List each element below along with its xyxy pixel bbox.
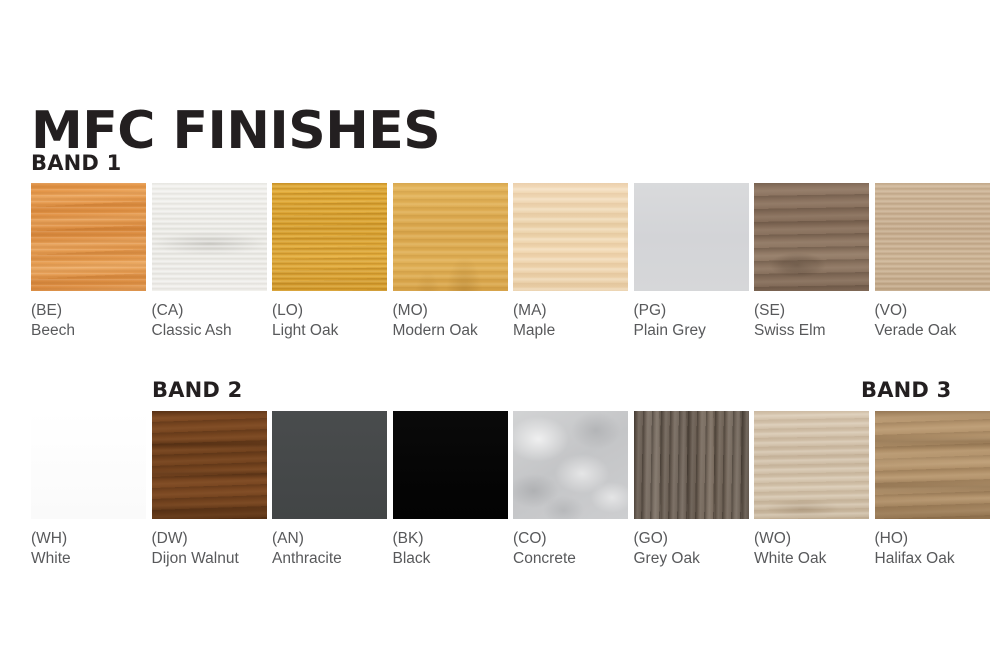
band-heading-band-2: BAND 2 bbox=[152, 379, 242, 401]
swatch-chip-lo[interactable] bbox=[272, 183, 387, 291]
swatch-chip-ma[interactable] bbox=[513, 183, 628, 291]
swatch-code: (MO) bbox=[393, 301, 508, 321]
swatch-name: Classic Ash bbox=[152, 321, 267, 341]
swatch-swiss-elm[interactable]: (SE)Swiss Elm bbox=[754, 183, 869, 341]
swatch-name: Light Oak bbox=[272, 321, 387, 341]
swatch-white-oak[interactable]: (WO)White Oak bbox=[754, 411, 869, 569]
swatch-name: White Oak bbox=[754, 549, 869, 569]
swatch-light-oak[interactable]: (LO)Light Oak bbox=[272, 183, 387, 341]
swatch-chip-dw[interactable] bbox=[152, 411, 267, 519]
swatch-anthracite[interactable]: (AN)Anthracite bbox=[272, 411, 387, 569]
swatch-caption: (BK)Black bbox=[393, 529, 508, 569]
swatch-code: (WH) bbox=[31, 529, 146, 549]
swatch-chip-mo[interactable] bbox=[393, 183, 508, 291]
swatch-chip-co[interactable] bbox=[513, 411, 628, 519]
swatch-beech[interactable]: (BE)Beech bbox=[31, 183, 146, 341]
swatch-code: (BE) bbox=[31, 301, 146, 321]
swatch-name: Grey Oak bbox=[634, 549, 749, 569]
swatch-caption: (DW)Dijon Walnut bbox=[152, 529, 267, 569]
swatch-chip-pg[interactable] bbox=[634, 183, 749, 291]
swatch-caption: (LO)Light Oak bbox=[272, 301, 387, 341]
swatch-caption: (MO)Modern Oak bbox=[393, 301, 508, 341]
swatch-caption: (BE)Beech bbox=[31, 301, 146, 341]
swatch-code: (GO) bbox=[634, 529, 749, 549]
swatch-caption: (GO)Grey Oak bbox=[634, 529, 749, 569]
swatch-name: Halifax Oak bbox=[875, 549, 990, 569]
swatch-chip-vo[interactable] bbox=[875, 183, 990, 291]
swatch-code: (CO) bbox=[513, 529, 628, 549]
swatch-row-band-1: (BE)Beech(CA)Classic Ash(LO)Light Oak(MO… bbox=[31, 183, 969, 358]
swatch-name: Dijon Walnut bbox=[152, 549, 267, 569]
swatch-verade-oak[interactable]: (VO)Verade Oak bbox=[875, 183, 990, 341]
swatch-code: (PG) bbox=[634, 301, 749, 321]
swatch-maple[interactable]: (MA)Maple bbox=[513, 183, 628, 341]
swatch-chip-go[interactable] bbox=[634, 411, 749, 519]
swatch-name: Swiss Elm bbox=[754, 321, 869, 341]
swatch-chip-be[interactable] bbox=[31, 183, 146, 291]
swatch-code: (AN) bbox=[272, 529, 387, 549]
swatch-name: Maple bbox=[513, 321, 628, 341]
swatch-chip-bk[interactable] bbox=[393, 411, 508, 519]
swatch-code: (CA) bbox=[152, 301, 267, 321]
swatch-grey-oak[interactable]: (GO)Grey Oak bbox=[634, 411, 749, 569]
swatch-caption: (CA)Classic Ash bbox=[152, 301, 267, 341]
swatch-halifax-oak[interactable]: (HO)Halifax Oak bbox=[875, 411, 990, 569]
swatch-code: (BK) bbox=[393, 529, 508, 549]
swatch-name: White bbox=[31, 549, 146, 569]
swatch-chip-ca[interactable] bbox=[152, 183, 267, 291]
swatch-chip-wo[interactable] bbox=[754, 411, 869, 519]
swatch-name: Anthracite bbox=[272, 549, 387, 569]
swatch-modern-oak[interactable]: (MO)Modern Oak bbox=[393, 183, 508, 341]
swatch-code: (SE) bbox=[754, 301, 869, 321]
swatch-name: Plain Grey bbox=[634, 321, 749, 341]
swatch-caption: (VO)Verade Oak bbox=[875, 301, 990, 341]
swatch-name: Verade Oak bbox=[875, 321, 990, 341]
swatch-caption: (PG)Plain Grey bbox=[634, 301, 749, 341]
swatch-code: (HO) bbox=[875, 529, 990, 549]
swatch-chip-ho[interactable] bbox=[875, 411, 990, 519]
swatch-dijon-walnut[interactable]: (DW)Dijon Walnut bbox=[152, 411, 267, 569]
swatch-name: Black bbox=[393, 549, 508, 569]
swatch-black[interactable]: (BK)Black bbox=[393, 411, 508, 569]
swatch-classic-ash[interactable]: (CA)Classic Ash bbox=[152, 183, 267, 341]
swatch-chip-an[interactable] bbox=[272, 411, 387, 519]
swatch-caption: (WH)White bbox=[31, 529, 146, 569]
swatch-code: (DW) bbox=[152, 529, 267, 549]
swatch-caption: (SE)Swiss Elm bbox=[754, 301, 869, 341]
swatch-name: Beech bbox=[31, 321, 146, 341]
swatch-row-band-2: (WH)White(DW)Dijon Walnut(AN)Anthracite(… bbox=[31, 411, 969, 586]
swatch-plain-grey[interactable]: (PG)Plain Grey bbox=[634, 183, 749, 341]
band-heading-band-3: BAND 3 bbox=[861, 379, 951, 401]
swatch-caption: (HO)Halifax Oak bbox=[875, 529, 990, 569]
swatch-code: (WO) bbox=[754, 529, 869, 549]
swatch-code: (LO) bbox=[272, 301, 387, 321]
swatch-caption: (CO)Concrete bbox=[513, 529, 628, 569]
swatch-code: (MA) bbox=[513, 301, 628, 321]
swatch-chip-se[interactable] bbox=[754, 183, 869, 291]
swatch-chip-wh[interactable] bbox=[31, 411, 146, 519]
swatch-white[interactable]: (WH)White bbox=[31, 411, 146, 569]
band-heading-band-1: BAND 1 bbox=[31, 152, 121, 174]
swatch-caption: (MA)Maple bbox=[513, 301, 628, 341]
swatch-concrete[interactable]: (CO)Concrete bbox=[513, 411, 628, 569]
swatch-caption: (AN)Anthracite bbox=[272, 529, 387, 569]
swatch-caption: (WO)White Oak bbox=[754, 529, 869, 569]
swatch-name: Modern Oak bbox=[393, 321, 508, 341]
swatch-code: (VO) bbox=[875, 301, 990, 321]
swatch-name: Concrete bbox=[513, 549, 628, 569]
